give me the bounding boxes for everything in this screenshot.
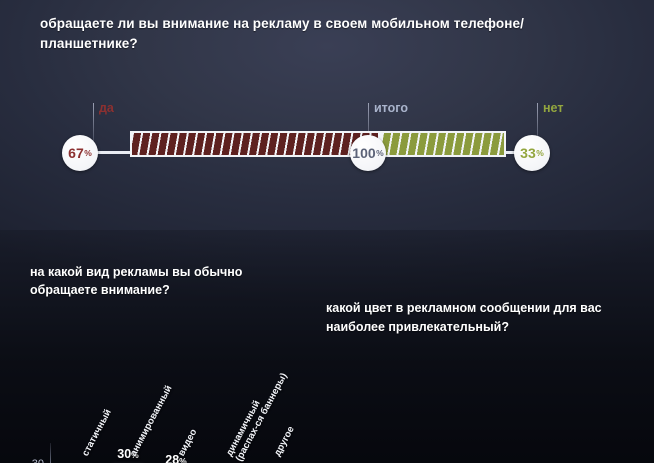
gauge-segment-yes bbox=[130, 131, 380, 157]
chart-ad-type: 10203020%статичный30%анимированный28%вид… bbox=[24, 394, 314, 463]
x-axis-category-label: другое bbox=[272, 424, 297, 458]
bar-item[interactable]: 12%динамичный (распах-ся баннеры) bbox=[208, 449, 240, 463]
badge-no-value: 33 bbox=[520, 145, 536, 161]
gauge-label-yes: да bbox=[99, 101, 114, 115]
bar-item[interactable]: 10%другое bbox=[256, 449, 288, 463]
bar-item[interactable]: 28%видео bbox=[160, 449, 192, 463]
gauge-segment-no bbox=[380, 131, 506, 157]
gauge-label-total: итого bbox=[374, 101, 408, 115]
infographic-page: обращаете ли вы внимание на рекламу в св… bbox=[0, 0, 654, 463]
badge-yes-sign: % bbox=[84, 148, 92, 158]
page-title: обращаете ли вы внимание на рекламу в св… bbox=[40, 14, 560, 53]
badge-yes-percent: 67% bbox=[62, 135, 98, 171]
bar-item[interactable]: 30%анимированный bbox=[112, 449, 144, 463]
badge-yes-value: 67 bbox=[68, 145, 84, 161]
gauge-label-no: нет bbox=[543, 101, 563, 115]
badge-total-sign: % bbox=[376, 148, 384, 158]
bar-item[interactable]: 20%статичный bbox=[64, 449, 96, 463]
badge-total-percent: 100% bbox=[350, 135, 386, 171]
x-axis-category-label: анимированный bbox=[128, 383, 175, 458]
gauge-tick-yes bbox=[93, 103, 94, 145]
y-axis-line bbox=[50, 443, 51, 463]
plot-area-ad-type: 10203020%статичный30%анимированный28%вид… bbox=[24, 449, 314, 463]
badge-total-value: 100 bbox=[352, 145, 375, 161]
question-ad-type: на какой вид рекламы вы обычно обращаете… bbox=[30, 263, 300, 299]
y-axis-tick-label: 30 bbox=[22, 458, 44, 463]
x-axis-category-label: статичный bbox=[80, 407, 114, 458]
badge-no-percent: 33% bbox=[514, 135, 550, 171]
yes-no-gauge: да итого нет 67% 100% 33% bbox=[0, 99, 654, 171]
x-axis-category-label: видео bbox=[176, 427, 199, 458]
question-ad-color: какой цвет в рекламном сообщении для вас… bbox=[326, 299, 626, 335]
badge-no-sign: % bbox=[536, 148, 544, 158]
